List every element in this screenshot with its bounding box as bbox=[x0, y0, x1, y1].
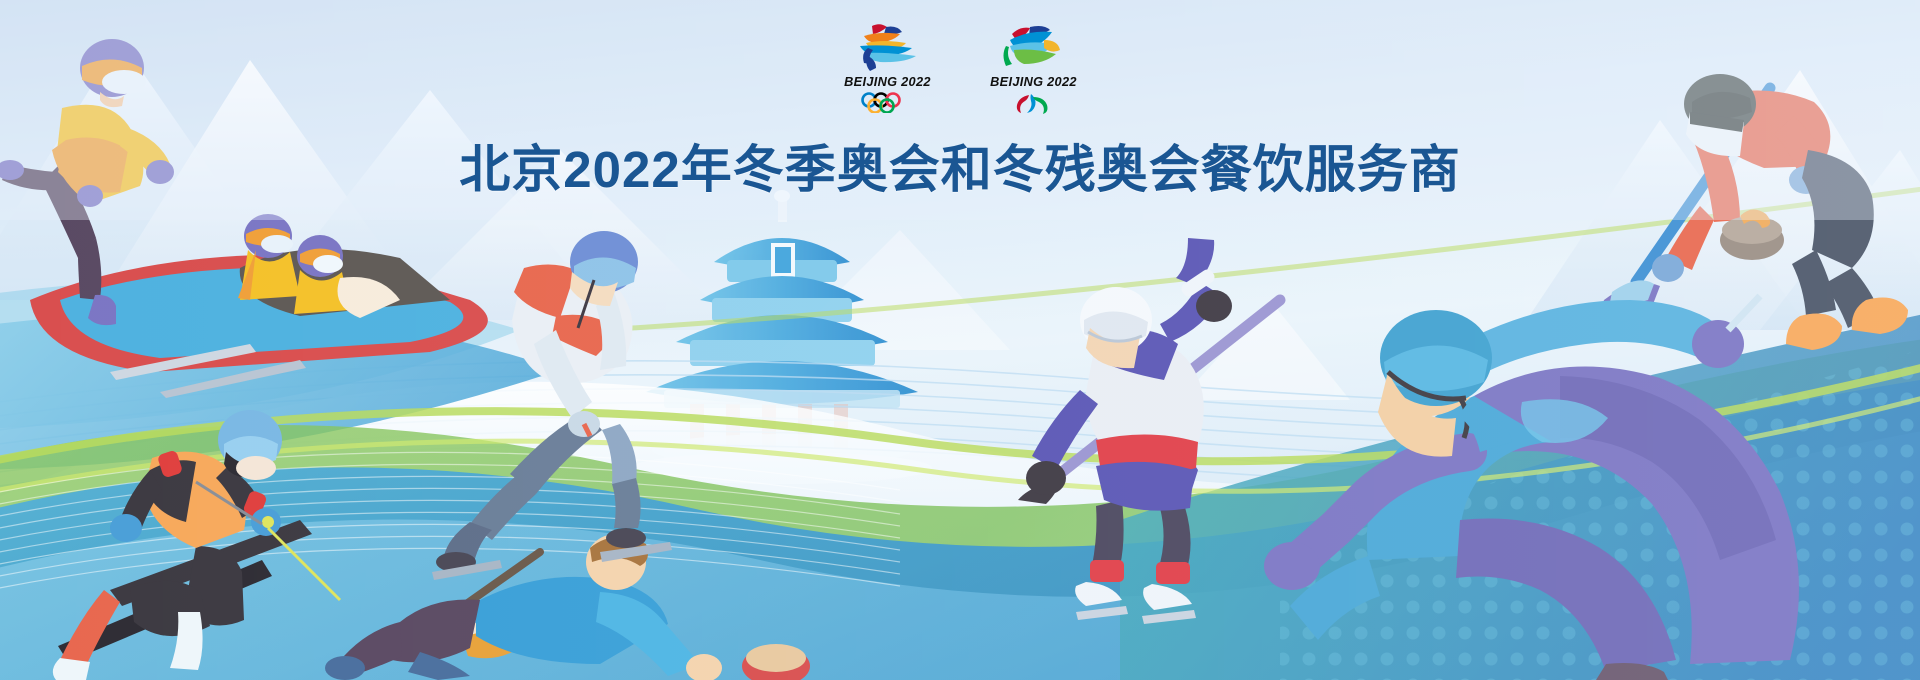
paralympic-emblem-mark bbox=[996, 22, 1070, 72]
page-title: 北京2022年冬季奥会和冬残奥会餐饮服务商 bbox=[0, 128, 1920, 202]
olympic-rings-icon bbox=[859, 92, 915, 113]
agitos-icon bbox=[1013, 93, 1053, 115]
paralympic-emblem: BEIJING 2022 bbox=[985, 22, 1081, 115]
paralympic-wordmark: BEIJING 2022 bbox=[990, 75, 1077, 89]
olympic-banner: BEIJING 2022 BEIJIN bbox=[0, 0, 1920, 680]
olympic-emblem-mark bbox=[850, 22, 924, 72]
olympic-wordmark: BEIJING 2022 bbox=[844, 75, 931, 89]
emblem-group: BEIJING 2022 BEIJIN bbox=[0, 22, 1920, 115]
olympic-emblem: BEIJING 2022 bbox=[839, 22, 935, 113]
